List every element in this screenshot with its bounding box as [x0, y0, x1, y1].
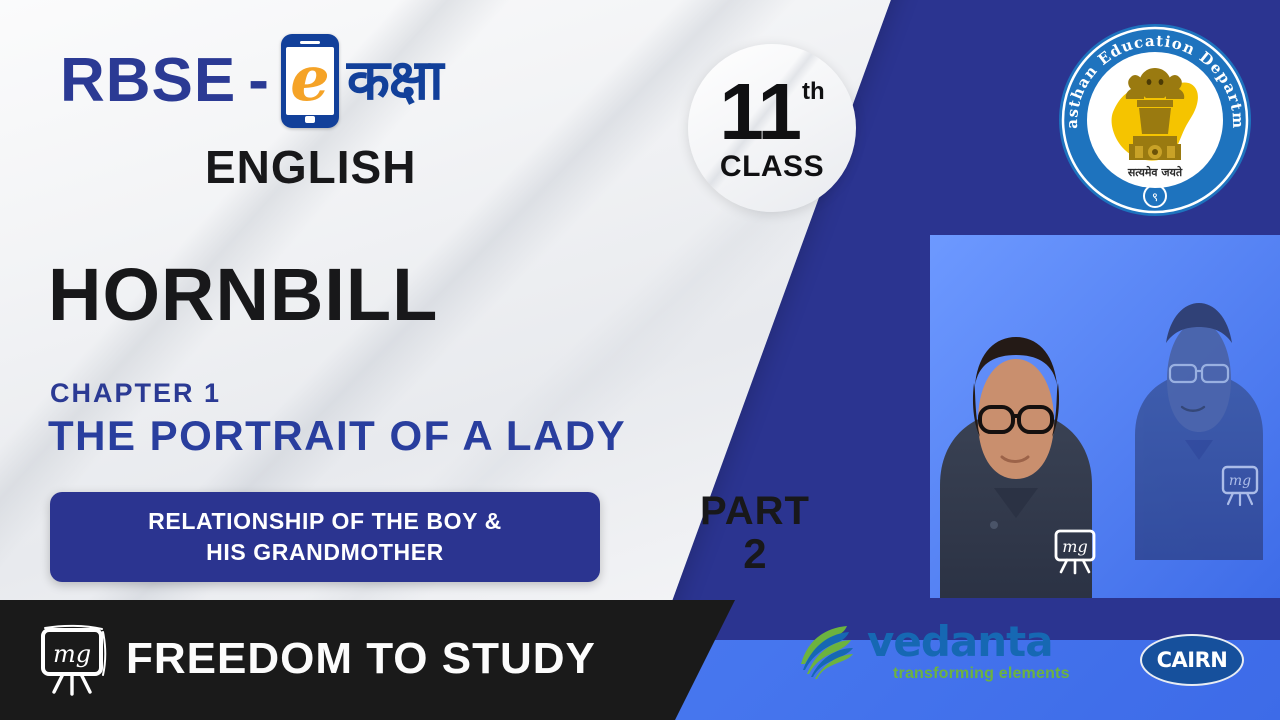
brand-separator: - — [248, 50, 269, 112]
vedanta-wordmark: vedanta — [867, 621, 1070, 663]
svg-text:mg: mg — [53, 640, 91, 668]
rajasthan-education-department-emblem: सत्यमेव जयते Rajasthan Education Departm… — [1055, 20, 1255, 220]
class-badge: 11 th CLASS — [688, 44, 856, 212]
class-ordinal: th — [802, 80, 825, 104]
chapter-title: THE PORTRAIT OF A LADY — [48, 413, 626, 459]
portal-hindi-label: कक्षा — [347, 53, 443, 109]
book-title: HORNBILL — [48, 258, 438, 332]
mg-brand-logo: mg — [34, 622, 112, 698]
svg-text:mg: mg — [1062, 537, 1087, 556]
part-number: 2 — [700, 532, 810, 576]
brand-header: RBSE - e कक्षा — [60, 34, 443, 128]
class-word: CLASS — [720, 150, 824, 184]
sponsor-cairn: CAIRN — [1140, 634, 1244, 686]
chapter-label: CHAPTER 1 — [50, 378, 221, 409]
emblem-motto: सत्यमेव जयते — [1127, 165, 1183, 179]
cairn-wordmark: CAIRN — [1157, 648, 1228, 672]
ekaksha-logo: e कक्षा — [281, 34, 443, 128]
vedanta-leaf-icon — [795, 620, 857, 682]
part-label: PART — [700, 490, 810, 532]
subject-label: ENGLISH — [205, 140, 416, 194]
topic-banner: RELATIONSHIP OF THE BOY & HIS GRANDMOTHE… — [50, 492, 600, 582]
svg-text:९: ९ — [1152, 190, 1158, 204]
board-acronym: RBSE — [60, 50, 236, 112]
footer-tagline: FREEDOM TO STUDY — [126, 634, 596, 684]
part-indicator: PART 2 — [700, 490, 810, 576]
topic-line-1: RELATIONSHIP OF THE BOY & — [68, 506, 582, 537]
sponsor-vedanta: vedanta transforming elements — [795, 620, 1070, 682]
vedanta-tagline: transforming elements — [893, 666, 1070, 682]
svg-text:mg: mg — [1229, 473, 1251, 489]
class-number: 11 — [719, 72, 800, 152]
thumbnail-canvas: mg mg — [0, 0, 1280, 720]
presenters-photo: mg mg — [930, 235, 1280, 598]
portal-e-letter: e — [290, 48, 329, 110]
smartphone-icon: e — [281, 34, 339, 128]
topic-line-2: HIS GRANDMOTHER — [68, 537, 582, 568]
